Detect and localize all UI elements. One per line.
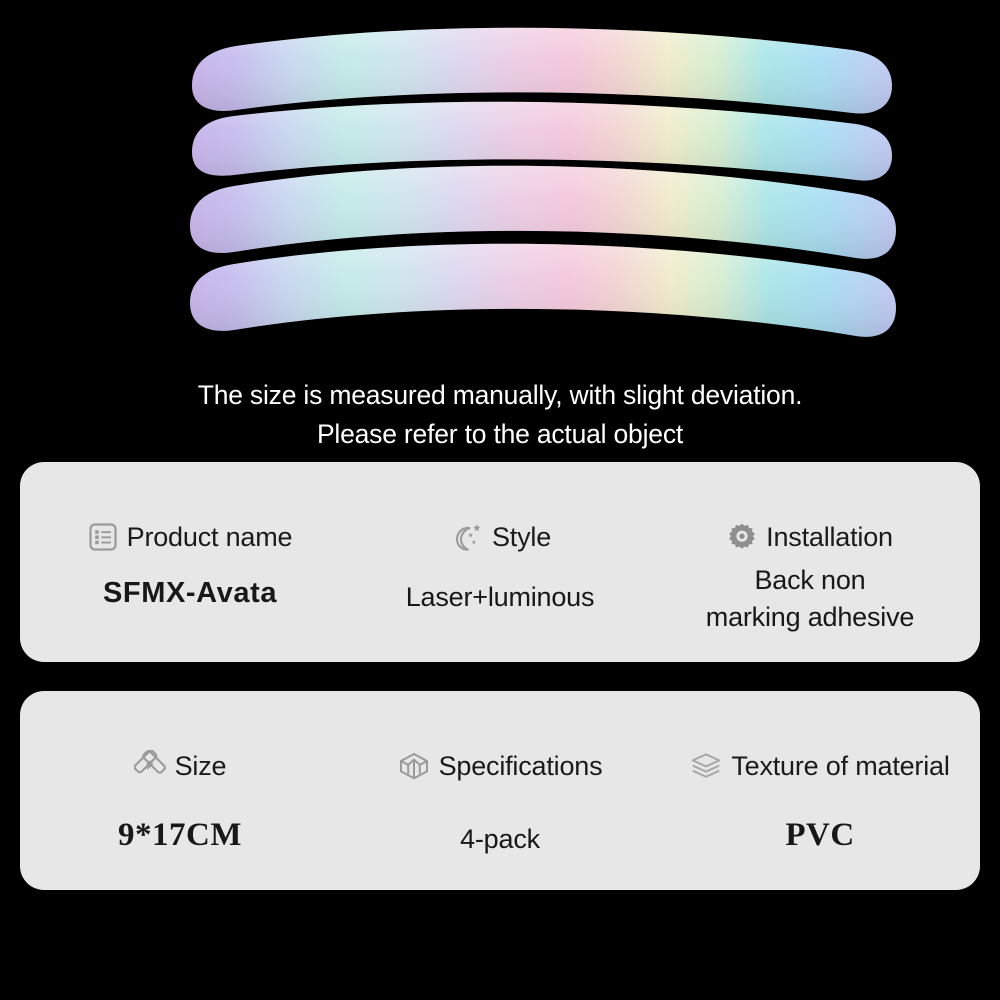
spec-label-specifications: Specifications [439, 751, 603, 782]
spec-head-style: Style [360, 520, 640, 554]
spec-cell-specifications: Specifications 4-pack [340, 691, 660, 890]
spec-value-installation: Back non marking adhesive [640, 562, 980, 636]
specs-row: Size 9*17CM Spe [20, 691, 980, 890]
caption-line-2: Please refer to the actual object [0, 415, 1000, 454]
spec-cell-size: Size 9*17CM [20, 691, 340, 890]
spec-head-texture: Texture of material [660, 749, 980, 783]
spec-head-size: Size [20, 749, 340, 783]
product-info-row: Product name SFMX-Avata Style Laser+lumi… [20, 462, 980, 662]
spec-value-style: Laser+luminous [360, 579, 640, 616]
holographic-strip-1 [192, 28, 892, 114]
spec-value-specifications: 4-pack [340, 821, 660, 858]
open-box-icon [398, 751, 430, 781]
spec-head-installation: Installation [640, 520, 980, 554]
spec-head-specifications: Specifications [340, 749, 660, 783]
spec-label-installation: Installation [766, 522, 893, 553]
spec-value-size: 9*17CM [20, 817, 340, 854]
product-info-card: Product name SFMX-Avata Style Laser+lumi… [20, 462, 980, 662]
spec-label-product-name: Product name [127, 522, 293, 553]
gear-icon [727, 522, 757, 552]
bandage-cross-icon [134, 750, 166, 782]
holographic-strip-4 [190, 244, 896, 337]
specs-card: Size 9*17CM Spe [20, 691, 980, 890]
spec-cell-installation: Installation Back non marking adhesive [640, 462, 980, 662]
installation-value-line-1: Back non [640, 562, 980, 599]
size-disclaimer-caption: The size is measured manually, with slig… [0, 376, 1000, 454]
spec-label-style: Style [492, 522, 551, 553]
spec-value-product-name: SFMX-Avata [20, 577, 360, 610]
spec-cell-style: Style Laser+luminous [360, 462, 640, 662]
moon-stars-icon [449, 521, 483, 553]
spec-cell-product-name: Product name SFMX-Avata [20, 462, 360, 662]
spec-label-size: Size [175, 751, 227, 782]
installation-value-line-2: marking adhesive [640, 599, 980, 636]
spec-head-product-name: Product name [20, 520, 360, 554]
list-icon [88, 522, 118, 552]
spec-cell-texture: Texture of material PVC [660, 691, 980, 890]
layers-icon [690, 752, 722, 780]
caption-line-1: The size is measured manually, with slig… [0, 376, 1000, 415]
spec-label-texture: Texture of material [731, 751, 949, 782]
spec-value-texture: PVC [660, 817, 980, 854]
